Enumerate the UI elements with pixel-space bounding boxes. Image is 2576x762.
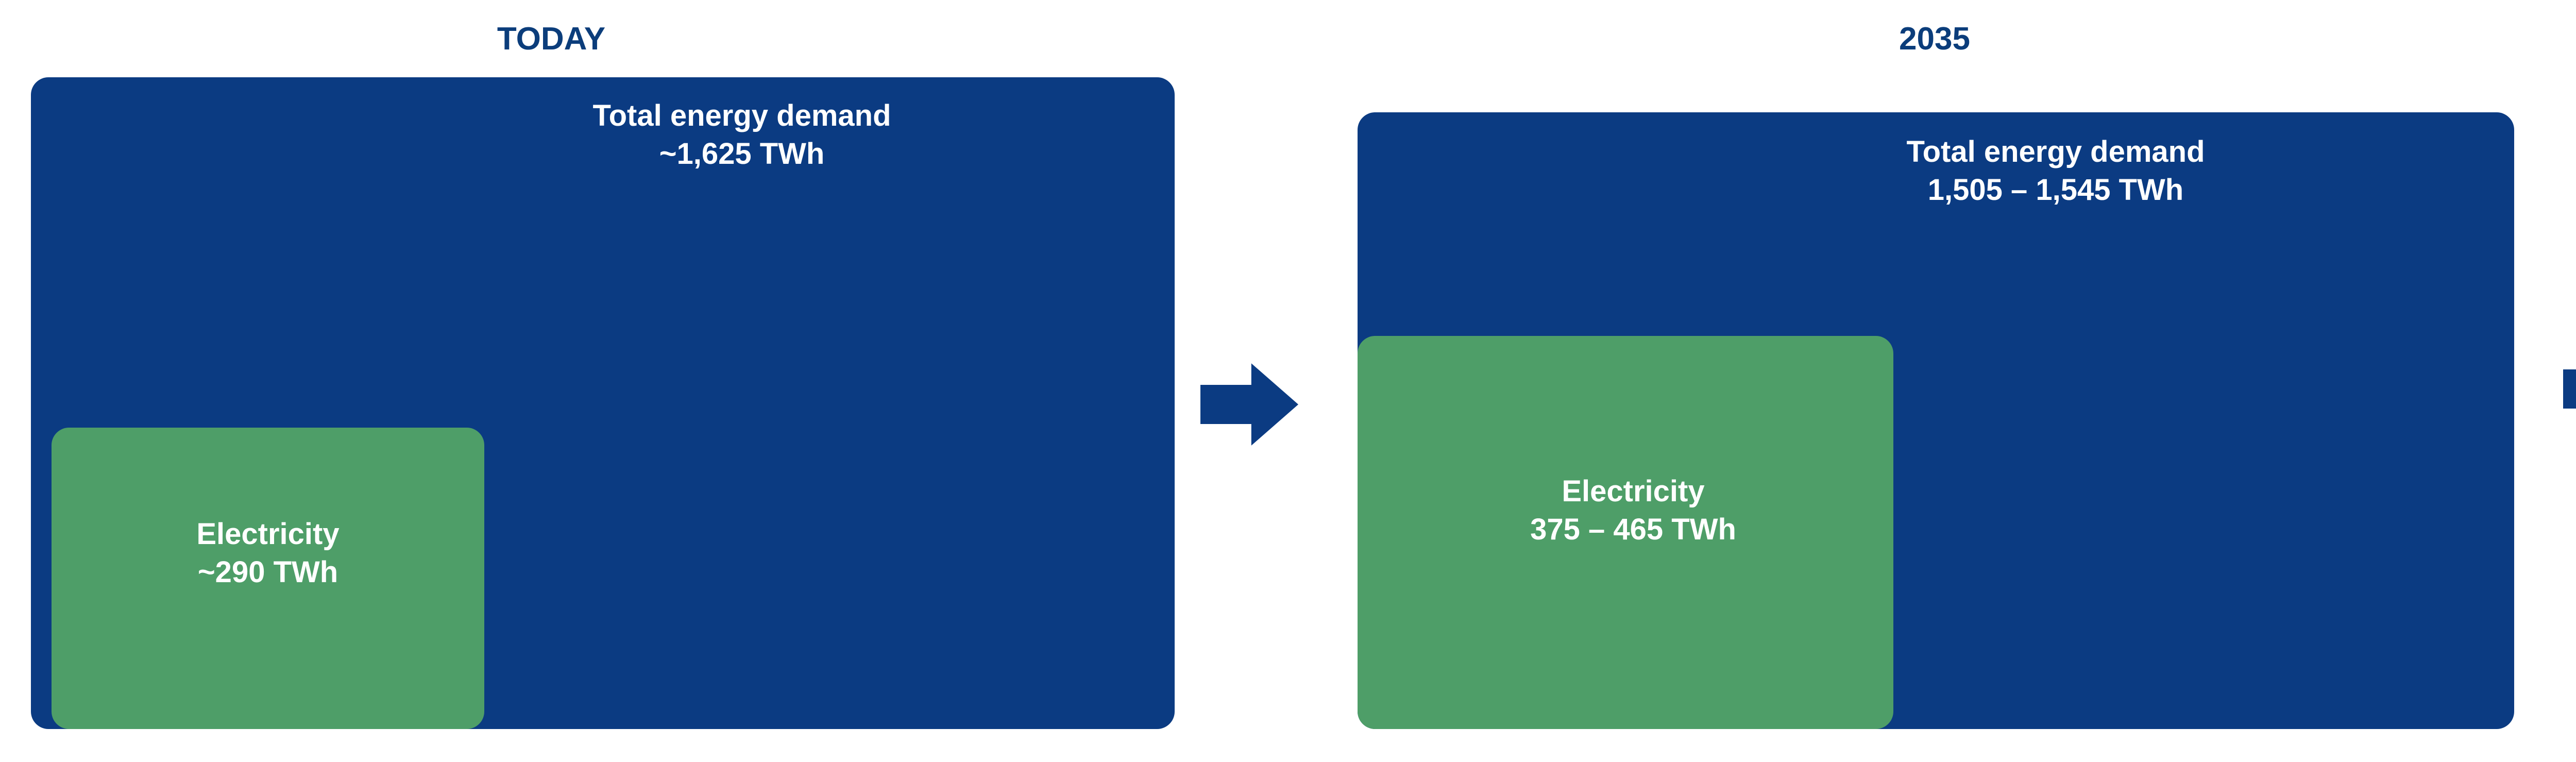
electricity-value-2035: 375 – 465 TWh xyxy=(1530,513,1736,546)
electricity-value-today: ~290 TWh xyxy=(198,555,338,589)
panel-today: TODAY Total energy demand ~1,625 TWh Ele… xyxy=(31,0,1175,732)
electricity-label-today: Electricity ~290 TWh xyxy=(52,515,484,591)
arrow-2035-to-2050 xyxy=(2563,340,2576,438)
arrow-today-to-2035 xyxy=(1200,355,1298,453)
electricity-title-2035: Electricity xyxy=(1562,475,1704,508)
total-energy-label-today: Total energy demand ~1,625 TWh xyxy=(319,97,1164,173)
panel-title-today: TODAY xyxy=(412,21,690,57)
panel-2035: 2035 Total energy demand 1,505 – 1,545 T… xyxy=(1358,0,2514,732)
electricity-title-today: Electricity xyxy=(196,517,339,551)
electricity-bar-today: Electricity ~290 TWh xyxy=(52,428,484,729)
total-energy-title-today: Total energy demand xyxy=(592,99,891,132)
electricity-bar-2035: Electricity 375 – 465 TWh xyxy=(1358,336,1893,729)
total-energy-label-2035: Total energy demand 1,505 – 1,545 TWh xyxy=(1615,133,2496,209)
total-energy-value-2035: 1,505 – 1,545 TWh xyxy=(1928,173,2183,207)
panel-title-2035: 2035 xyxy=(1795,21,2074,57)
chart-canvas: TODAY Total energy demand ~1,625 TWh Ele… xyxy=(0,0,2576,762)
electricity-label-2035: Electricity 375 – 465 TWh xyxy=(1373,472,1893,549)
total-energy-title-2035: Total energy demand xyxy=(1906,135,2205,168)
total-energy-value-today: ~1,625 TWh xyxy=(659,137,825,171)
